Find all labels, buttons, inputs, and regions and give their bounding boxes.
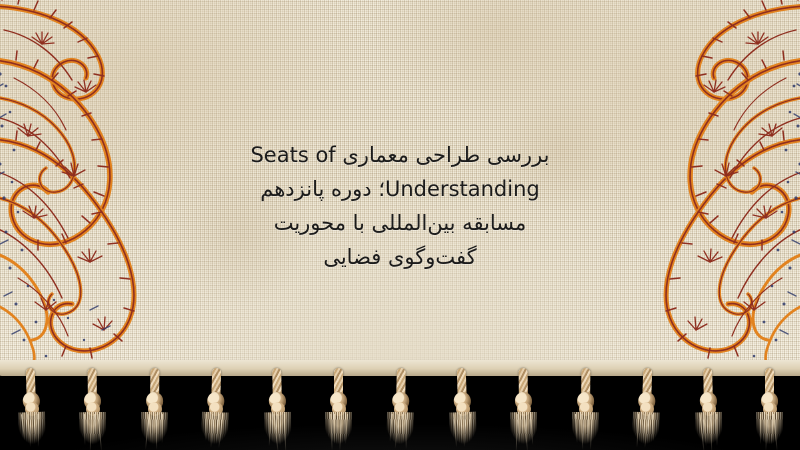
- headline-line-2: Understanding؛ دوره پانزدهم: [0, 172, 800, 206]
- tassel-strand: [469, 414, 471, 440]
- tassel-fringe: [0, 368, 800, 450]
- tassel: [77, 368, 108, 448]
- tassel-strand: [334, 414, 335, 444]
- tassel: [199, 368, 231, 449]
- tassel: [445, 368, 477, 449]
- tassel: [569, 368, 600, 448]
- slide-headline: بررسی طراحی معماری Seats of Understandin…: [0, 138, 800, 274]
- tassel: [384, 368, 416, 449]
- headline-line-1: بررسی طراحی معماری Seats of: [0, 138, 800, 172]
- tassel-skirt: [140, 412, 167, 448]
- headline-line-3: مسابقه بین‌المللی با محوریت: [0, 206, 800, 240]
- tassel: [138, 368, 169, 448]
- tassel: [323, 368, 353, 448]
- tassel: [508, 368, 539, 448]
- tassel-strand: [760, 414, 761, 444]
- tassel: [692, 368, 724, 449]
- tassel-strand: [161, 414, 162, 443]
- tassel-strand: [587, 414, 588, 443]
- tassel: [754, 368, 784, 448]
- tassel: [261, 368, 293, 449]
- tassel: [630, 368, 662, 449]
- tassel-strand: [463, 414, 464, 447]
- tassel: [15, 368, 47, 449]
- headline-line-4: گفت‌وگوی فضایی: [0, 240, 800, 274]
- tassel-strand: [716, 414, 717, 446]
- tassel-strand: [37, 414, 38, 447]
- slide-canvas: بررسی طراحی معماری Seats of Understandin…: [0, 0, 800, 450]
